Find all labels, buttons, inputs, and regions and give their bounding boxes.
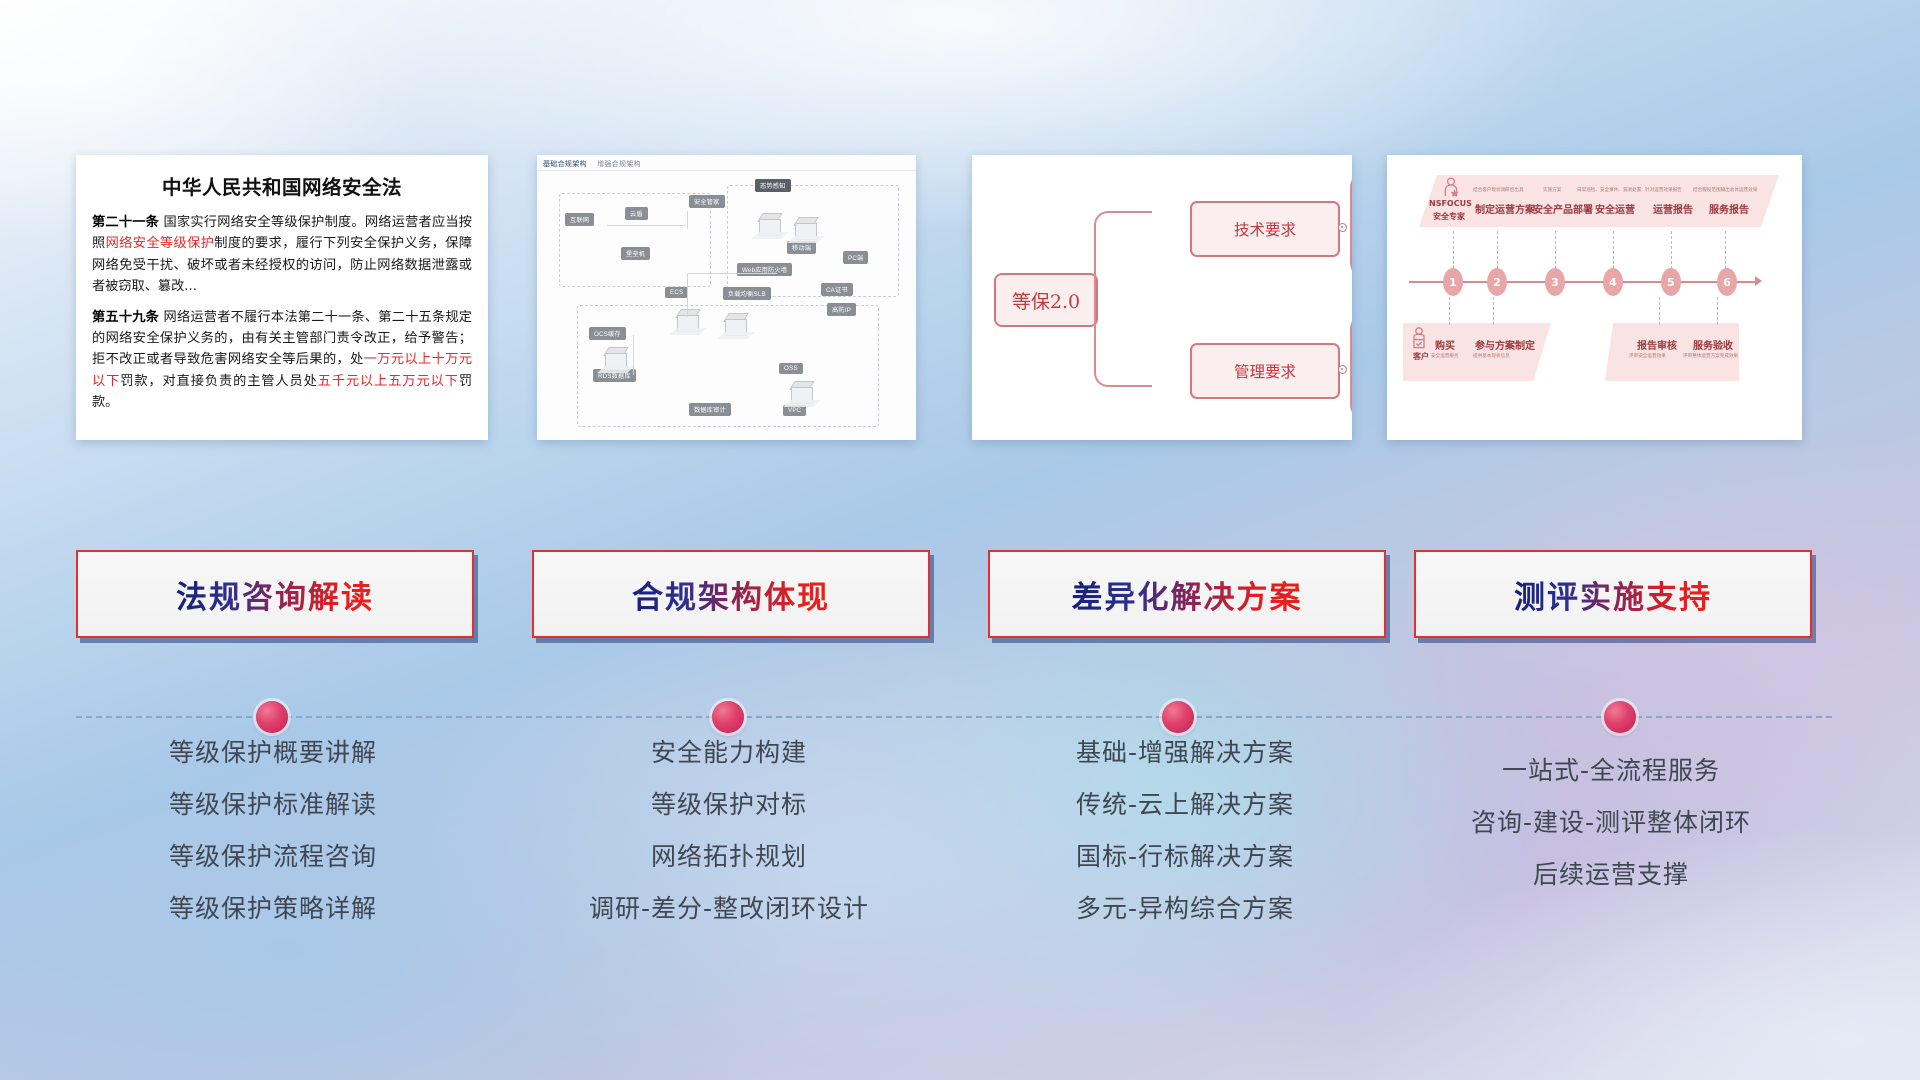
timeline-connector — [1659, 297, 1661, 325]
timeline-top-title: 安全产品部署 — [1533, 201, 1593, 216]
mindmap-root-node: 等保2.0 — [994, 273, 1098, 327]
headline-row: 法规咨询解读 合规架构体现 差异化解决方案 测评实施支持 — [0, 550, 1920, 650]
timeline-step-node[interactable]: 6 — [1717, 268, 1737, 296]
timeline-bottom-title: 参与方案制定 — [1475, 337, 1535, 352]
mindmap-collapse-dot-icon[interactable] — [1338, 223, 1347, 232]
timeline-connector — [1725, 231, 1727, 269]
detail-item: 咨询-建设-测评整体闭环 — [1414, 810, 1808, 835]
headline-label: 合规架构体现 — [632, 572, 830, 617]
timeline-top-title: 运营报告 — [1653, 201, 1693, 216]
tab-basic-compliance[interactable]: 基础合规架构 — [543, 161, 587, 168]
timeline-top-sub: 结合服役范围输出总体运营效果 — [1693, 187, 1757, 193]
thumbnail-card-law[interactable]: 中华人民共和国网络安全法 第二十一条 国家实行网络安全等级保护制度。网络运营者应… — [76, 155, 488, 440]
thumbnail-row: 中华人民共和国网络安全法 第二十一条 国家实行网络安全等级保护制度。网络运营者应… — [0, 150, 1920, 450]
thumbnail-card-timeline[interactable]: NSFOCUS 安全专家 客户 制定运营方案 结合客户现状调研后出具 安全产品部… — [1387, 155, 1802, 440]
server-cube-icon — [793, 217, 819, 241]
timeline-bottom-sub: 提供基本现状信息 — [1473, 353, 1510, 359]
rail-knob-3[interactable] — [1162, 701, 1194, 733]
mindmap-branch1-connector — [1350, 173, 1352, 277]
timeline-step-node[interactable]: 4 — [1603, 268, 1623, 296]
architecture-diagram: 基础合规架构 增强合规架构 互联网 云盾 安全管家 态势感知 堡垒机 移动端 P… — [537, 155, 916, 440]
detail-item: 等级保护对标 — [532, 792, 926, 817]
timeline-top-title: 制定运营方案 — [1475, 201, 1535, 216]
timeline-top-sub: 针对运营效果报告 — [1645, 187, 1682, 193]
mindmap-branch-technical: 技术要求 — [1190, 201, 1340, 257]
rail-knob-4[interactable] — [1604, 701, 1636, 733]
customer-icon — [1411, 327, 1427, 349]
node-slb: 负载均衡SLB — [723, 287, 771, 300]
server-cube-icon — [789, 381, 815, 405]
security-expert-icon — [1443, 177, 1459, 197]
rail-dashed-line — [76, 716, 1832, 718]
timeline-customer-label: 客户 — [1413, 351, 1429, 362]
headline-label: 测评实施支持 — [1514, 572, 1712, 617]
node-waf: Web应用防火墙 — [737, 263, 792, 276]
server-cube-icon — [603, 347, 629, 371]
timeline-step-node[interactable]: 5 — [1661, 268, 1681, 296]
architecture-tabs: 基础合规架构 增强合规架构 — [543, 159, 649, 169]
timeline-top-sub: 日常巡检、安全事件、漏洞处置 — [1577, 187, 1641, 193]
thumbnail-card-architecture[interactable]: 基础合规架构 增强合规架构 互联网 云盾 安全管家 态势感知 堡垒机 移动端 P… — [537, 155, 916, 440]
headline-label: 差异化解决方案 — [1072, 572, 1303, 617]
law-title: 中华人民共和国网络安全法 — [92, 171, 472, 200]
timeline-top-sub: 结合客户现状调研后出具 — [1473, 187, 1524, 193]
mindmap-diagram: 等保2.0 技术要求 物理和环境安全 网络和通信安全 设备和计算安全 应用和数据… — [972, 155, 1352, 440]
node-pc: PC端 — [843, 251, 868, 264]
node-ecs: ECS — [665, 287, 688, 298]
timeline-connector — [1449, 297, 1451, 325]
timeline-expert-label-line2: 安全专家 — [1433, 211, 1465, 222]
node-anti-ddos-ip: 高防IP — [827, 303, 856, 316]
timeline-step-node[interactable]: 2 — [1487, 268, 1507, 296]
timeline-bottom-sub: 评审整体运营方案完成效果 — [1683, 353, 1738, 359]
headline-box-differentiated-solution[interactable]: 差异化解决方案 — [988, 550, 1386, 638]
mindmap-root-connector — [1094, 211, 1152, 387]
timeline-bottom-sub: 评审安全运营效果 — [1629, 353, 1666, 359]
node-ocs-cache: OCS缓存 — [589, 327, 626, 340]
mindmap-branch2-connector — [1350, 315, 1352, 419]
node-ca-cert: CA证书 — [821, 283, 853, 296]
timeline-top-sub: 实施方案 — [1543, 187, 1561, 193]
timeline-bottom-title: 报告审核 — [1637, 337, 1677, 352]
article-59-text-b: 罚款，对直接负责的主管人员处 — [120, 374, 318, 389]
operation-timeline: NSFOCUS 安全专家 客户 制定运营方案 结合客户现状调研后出具 安全产品部… — [1387, 155, 1802, 440]
timeline-connector — [1555, 231, 1557, 269]
timeline-band-bottom-right — [1605, 323, 1739, 381]
tab-enhanced-compliance[interactable]: 增强合规架构 — [597, 161, 641, 168]
detail-column-regulation-consulting: 等级保护概要讲解 等级保护标准解读 等级保护流程咨询 等级保护策略详解 — [76, 740, 470, 948]
timeline-connector — [1717, 297, 1719, 325]
detail-column-differentiated-solution: 基础-增强解决方案 传统-云上解决方案 国标-行标解决方案 多元-异构综合方案 — [988, 740, 1382, 948]
architecture-tab-divider — [537, 170, 916, 171]
detail-item: 调研-差分-整改闭环设计 — [532, 896, 926, 921]
timeline-arrow-icon — [1755, 276, 1762, 286]
law-document: 中华人民共和国网络安全法 第二十一条 国家实行网络安全等级保护制度。网络运营者应… — [76, 155, 488, 440]
node-internet: 互联网 — [565, 213, 594, 226]
law-article-59: 第五十九条 网络运营者不履行本法第二十一条、第二十五条规定的网络安全保护义务的，… — [92, 307, 472, 414]
thumbnail-card-mindmap[interactable]: 等保2.0 技术要求 物理和环境安全 网络和通信安全 设备和计算安全 应用和数据… — [972, 155, 1352, 440]
detail-item: 等级保护策略详解 — [76, 896, 470, 921]
architecture-link — [687, 211, 688, 229]
timeline-bottom-sub: 安全运营服务 — [1431, 353, 1459, 359]
headline-box-regulation-consulting[interactable]: 法规咨询解读 — [76, 550, 474, 638]
detail-columns: 等级保护概要讲解 等级保护标准解读 等级保护流程咨询 等级保护策略详解 安全能力… — [0, 740, 1920, 1040]
rail-knob-2[interactable] — [712, 701, 744, 733]
detail-item: 国标-行标解决方案 — [988, 844, 1382, 869]
architecture-link — [687, 273, 777, 274]
article-59-highlight-2: 五千元以上五万元以下 — [318, 374, 459, 389]
law-article-21: 第二十一条 国家实行网络安全等级保护制度。网络运营者应当按照网络安全等级保护制度… — [92, 212, 472, 298]
headline-box-assessment-support[interactable]: 测评实施支持 — [1414, 550, 1812, 638]
timeline-expert-label-line1: NSFOCUS — [1429, 199, 1472, 208]
architecture-link — [607, 225, 685, 226]
architecture-link — [687, 273, 688, 317]
article-21-highlight: 网络安全等级保护 — [106, 236, 215, 251]
server-cube-icon — [757, 213, 783, 237]
detail-column-assessment-support: 一站式-全流程服务 咨询-建设-测评整体闭环 后续运营支撑 — [1414, 740, 1808, 914]
timeline-step-node[interactable]: 1 — [1443, 268, 1463, 296]
detail-item: 多元-异构综合方案 — [988, 896, 1382, 921]
timeline-top-title: 服务报告 — [1709, 201, 1749, 216]
headline-label: 法规咨询解读 — [176, 572, 374, 617]
detail-item: 等级保护标准解读 — [76, 792, 470, 817]
headline-box-compliance-architecture[interactable]: 合规架构体现 — [532, 550, 930, 638]
node-bastion-host: 堡垒机 — [621, 247, 650, 260]
detail-item: 基础-增强解决方案 — [988, 740, 1382, 765]
detail-item: 安全能力构建 — [532, 740, 926, 765]
detail-item: 等级保护流程咨询 — [76, 844, 470, 869]
detail-item: 网络拓扑规划 — [532, 844, 926, 869]
timeline-bottom-title: 服务验收 — [1693, 337, 1733, 352]
rail-knob-1[interactable] — [256, 701, 288, 733]
server-cube-icon — [723, 313, 749, 337]
detail-column-compliance-architecture: 安全能力构建 等级保护对标 网络拓扑规划 调研-差分-整改闭环设计 — [532, 740, 926, 948]
detail-item: 一站式-全流程服务 — [1414, 758, 1808, 783]
timeline-step-node[interactable]: 3 — [1545, 268, 1565, 296]
timeline-connector — [1671, 231, 1673, 269]
architecture-link — [633, 335, 634, 375]
article-59-label: 第五十九条 — [92, 310, 159, 325]
timeline-bottom-title: 购买 — [1435, 337, 1455, 352]
timeline-top-title: 安全运营 — [1595, 201, 1635, 216]
timeline-connector — [1497, 231, 1499, 269]
detail-item: 等级保护概要讲解 — [76, 740, 470, 765]
detail-item: 后续运营支撑 — [1414, 862, 1808, 887]
mindmap-branch-management: 管理要求 — [1190, 343, 1340, 399]
mindmap-collapse-dot-icon[interactable] — [1338, 365, 1347, 374]
node-db-audit: 数据库审计 — [689, 403, 731, 416]
node-oss: OSS — [779, 363, 803, 374]
timeline-connector — [1493, 297, 1495, 325]
server-cube-icon — [675, 309, 701, 333]
node-situation-awareness: 态势感知 — [755, 179, 791, 192]
timeline-connector — [1453, 231, 1455, 269]
article-21-label: 第二十一条 — [92, 215, 159, 230]
timeline-rail — [0, 697, 1920, 737]
timeline-connector — [1613, 231, 1615, 269]
node-security-butler: 安全管家 — [689, 195, 725, 208]
detail-item: 传统-云上解决方案 — [988, 792, 1382, 817]
node-cloud-shield: 云盾 — [625, 207, 648, 220]
